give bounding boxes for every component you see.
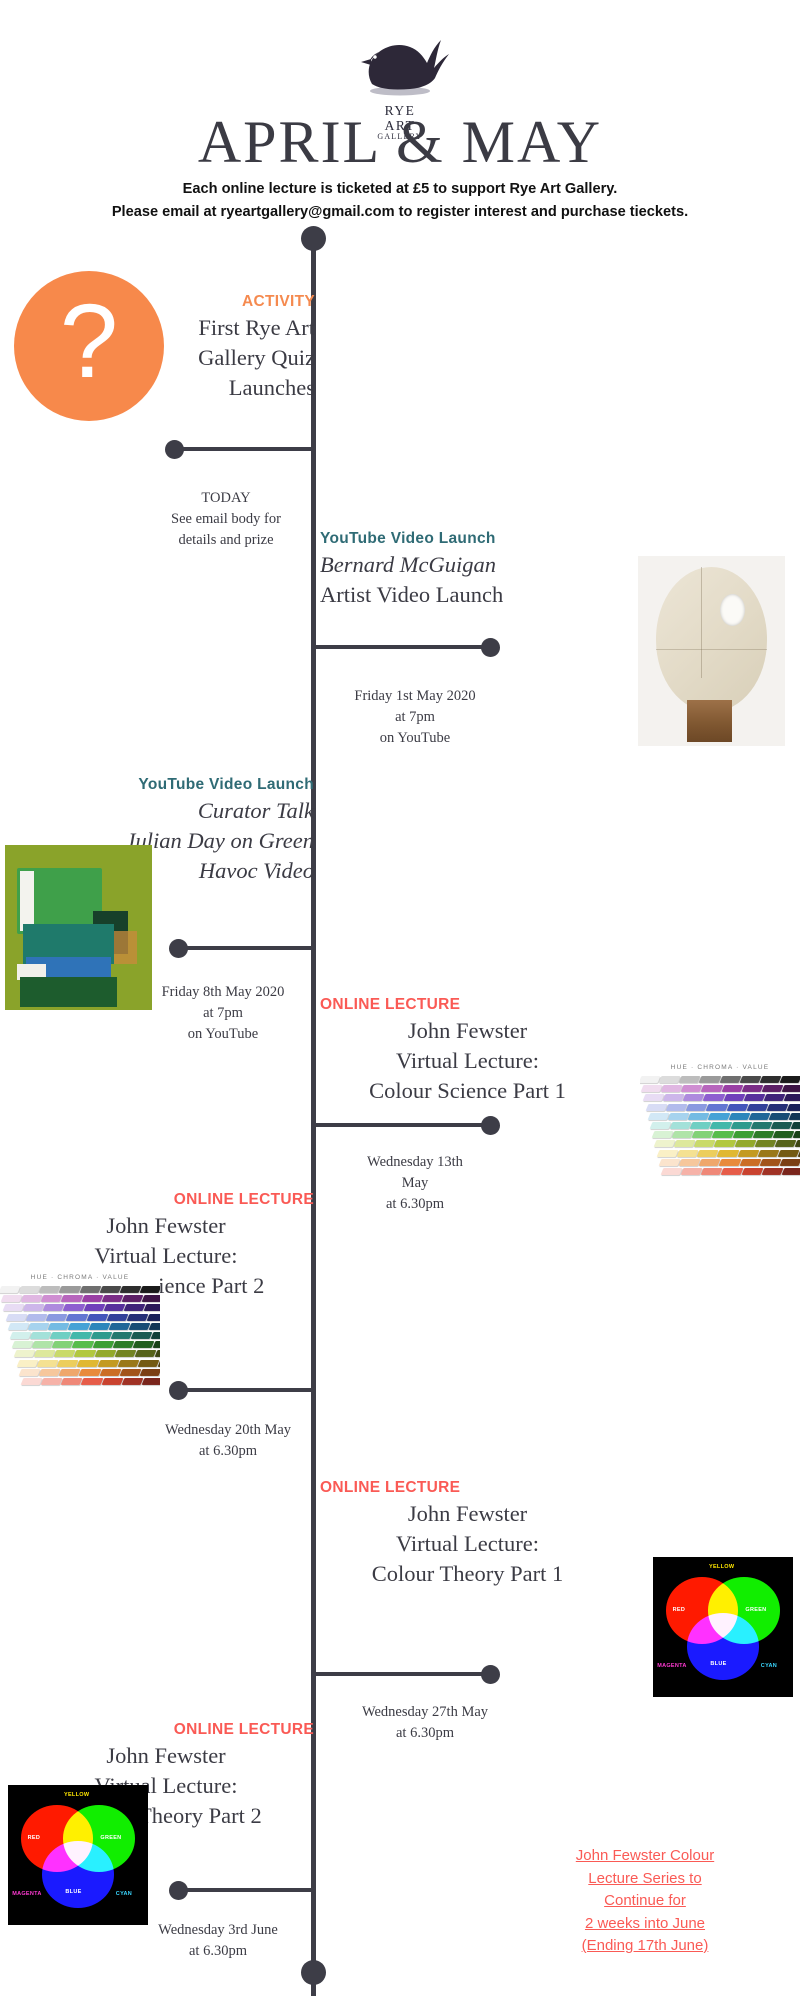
colour-chart-swatch <box>701 1085 723 1092</box>
page-subtitle: Each online lecture is ticketed at £5 to… <box>0 178 800 223</box>
colour-chart-swatch <box>90 1332 112 1339</box>
colour-chart-swatch <box>701 1168 723 1175</box>
colour-chart-row <box>12 1341 160 1348</box>
colour-chart-swatch <box>721 1085 743 1092</box>
footer-note-line-5: (Ending 17th June) <box>545 1935 745 1958</box>
colour-chart-swatch <box>83 1304 105 1311</box>
colour-chart-row <box>652 1131 800 1138</box>
colour-chart-swatch <box>759 1076 781 1083</box>
colour-chart-swatch <box>1 1295 23 1302</box>
colour-chart-swatch <box>81 1295 103 1302</box>
colour-chart-swatch <box>30 1332 52 1339</box>
colour-chart-swatch <box>41 1295 63 1302</box>
meta-line-2: at 6.30pm <box>118 1941 318 1962</box>
colour-chart-swatch <box>146 1314 160 1321</box>
event-connector-dot <box>169 1381 188 1400</box>
meta-line-2: at 7pm <box>128 1003 318 1024</box>
colour-chart-swatch <box>155 1350 160 1357</box>
headline-line-2: Artist Video Launch <box>320 580 540 610</box>
colour-chart-swatch <box>658 1159 680 1166</box>
rgb-label-yellow: YELLOW <box>64 1792 89 1798</box>
colour-chart-swatch <box>790 1122 800 1129</box>
colour-chart-row <box>14 1350 160 1357</box>
colour-chart-swatch <box>659 1076 681 1083</box>
colour-chart-swatch <box>32 1341 54 1348</box>
event-kicker: ONLINE LECTURE <box>320 1478 615 1497</box>
colour-chart-swatch <box>762 1085 784 1092</box>
meta-line-1: Wednesday 13th <box>325 1152 505 1173</box>
rgb-label-cyan: CYAN <box>761 1663 777 1669</box>
event-card-colour-science-part-1: ONLINE LECTURE John Fewster Virtual Lect… <box>320 995 615 1105</box>
headline-line-1: John Fewster <box>18 1211 314 1241</box>
event-connector-mcguigan <box>313 645 491 649</box>
event-meta: Wednesday 3rd June at 6.30pm <box>118 1920 318 1962</box>
colour-chart-swatch <box>723 1094 745 1101</box>
colour-chart-swatch <box>795 1140 800 1147</box>
colour-chart-swatch <box>39 1369 61 1376</box>
event-connector-dot <box>165 440 184 459</box>
meta-line-1: Wednesday 3rd June <box>118 1920 318 1941</box>
event-meta: Friday 8th May 2020 at 7pm on YouTube <box>128 982 318 1045</box>
colour-chart-row <box>5 1314 160 1321</box>
colour-chart-swatch <box>139 1286 160 1293</box>
colour-chart-swatch <box>61 1295 83 1302</box>
colour-chart-swatch <box>775 1140 797 1147</box>
colour-chart-swatch <box>79 1369 101 1376</box>
colour-chart-swatch <box>647 1113 669 1120</box>
event-meta: Wednesday 20th May at 6.30pm <box>128 1420 328 1462</box>
sculpture-seam-horizontal <box>656 649 768 650</box>
colour-chart-swatch <box>115 1350 137 1357</box>
colour-chart-swatch <box>110 1332 132 1339</box>
infographic-page: RYE ART GALLERY APRIL & MAY Each online … <box>0 0 800 2000</box>
meta-line-3: on YouTube <box>128 1024 318 1045</box>
colour-chart-swatch <box>681 1085 703 1092</box>
sculpture-photo <box>638 556 785 746</box>
colour-chart-swatch <box>679 1076 701 1083</box>
colour-chart-swatch <box>728 1113 750 1120</box>
event-connector-colour-science-1 <box>313 1123 491 1127</box>
colour-chart-swatch <box>690 1122 712 1129</box>
meta-line-2: See email body for <box>140 509 312 530</box>
headline-line-2: Virtual Lecture: <box>18 1241 314 1271</box>
colour-chart-swatch <box>641 1085 663 1092</box>
colour-chart-swatch <box>712 1131 734 1138</box>
event-kicker: ONLINE LECTURE <box>320 995 615 1014</box>
colour-chart-swatch <box>739 1159 761 1166</box>
colour-chart-swatch <box>70 1332 92 1339</box>
colour-chart-swatch <box>761 1168 783 1175</box>
colour-chart-swatch <box>68 1323 90 1330</box>
colour-chart-swatch <box>79 1286 101 1293</box>
event-meta: TODAY See email body for details and pri… <box>140 488 312 551</box>
headline-line-3: Colour Science Part 1 <box>320 1076 615 1106</box>
event-meta-colour-theory-part-2: Wednesday 3rd June at 6.30pm <box>118 1920 318 1962</box>
colour-chart-image-1: HUE · CHROMA · VALUE <box>640 1060 800 1190</box>
colour-chart-swatch <box>128 1323 150 1330</box>
colour-chart-row <box>18 1369 160 1376</box>
colour-chart-swatch <box>746 1104 768 1111</box>
colour-chart-swatch <box>777 1150 799 1157</box>
headline-line-3: Colour Theory Part 1 <box>320 1559 615 1589</box>
colour-chart-swatch <box>99 1369 121 1376</box>
colour-chart-swatch <box>766 1104 788 1111</box>
colour-chart-swatch <box>94 1350 116 1357</box>
colour-chart-swatch <box>135 1350 157 1357</box>
timeline-end-node <box>301 1960 326 1985</box>
colour-chart-swatch <box>117 1360 139 1367</box>
headline-line-2: Virtual Lecture: <box>320 1046 615 1076</box>
colour-chart-swatch <box>124 1304 146 1311</box>
colour-chart-swatch <box>770 1122 792 1129</box>
colour-chart-swatch <box>784 1094 800 1101</box>
timeline-start-node <box>301 226 326 251</box>
colour-chart-row <box>7 1323 160 1330</box>
colour-chart-swatch <box>112 1341 134 1348</box>
colour-chart-row <box>658 1159 800 1166</box>
meta-line-2: May <box>325 1173 505 1194</box>
colour-chart-row <box>645 1104 800 1111</box>
meta-line-2: at 6.30pm <box>128 1441 328 1462</box>
colour-chart-swatch <box>150 1332 160 1339</box>
colour-chart-row <box>21 1378 160 1385</box>
colour-chart-swatch <box>699 1076 721 1083</box>
footer-note-line-3: Continue for <box>545 1890 745 1913</box>
colour-chart-swatch <box>52 1341 74 1348</box>
colour-chart-swatch <box>650 1122 672 1129</box>
event-connector-dot <box>481 1116 500 1135</box>
sculpture-seam-vertical <box>701 567 702 677</box>
colour-chart-swatch <box>786 1104 800 1111</box>
colour-chart-swatch <box>652 1131 674 1138</box>
paint-shape-2 <box>20 871 35 930</box>
meta-line-1: Wednesday 20th May <box>128 1420 328 1441</box>
colour-chart-swatch <box>748 1113 770 1120</box>
colour-chart-swatch <box>730 1122 752 1129</box>
colour-chart-swatch <box>19 1286 41 1293</box>
rgb-label-yellow: YELLOW <box>709 1564 734 1570</box>
colour-chart-swatch <box>734 1140 756 1147</box>
colour-chart-swatch <box>144 1304 160 1311</box>
event-meta-bernard-mcguigan-video: Friday 1st May 2020 at 7pm on YouTube <box>325 686 505 749</box>
colour-chart-swatch <box>699 1159 721 1166</box>
colour-chart-swatch <box>676 1150 698 1157</box>
headline-line-1: John Fewster <box>18 1741 314 1771</box>
colour-chart-swatch <box>717 1150 739 1157</box>
colour-chart-swatch <box>744 1094 766 1101</box>
colour-chart-swatch <box>130 1332 152 1339</box>
colour-chart-swatch <box>59 1286 81 1293</box>
colour-chart-swatch <box>757 1150 779 1157</box>
event-meta: Wednesday 13th May at 6.30pm <box>325 1152 505 1215</box>
colour-chart-swatch <box>703 1094 725 1101</box>
paint-shape-8 <box>114 931 138 964</box>
colour-chart-swatch <box>0 1286 21 1293</box>
headline-line-1: Curator Talk <box>92 796 314 826</box>
colour-chart-swatch <box>72 1341 94 1348</box>
colour-chart-swatch <box>141 1378 160 1385</box>
rgb-label-magenta: MAGENTA <box>657 1663 687 1669</box>
green-painting-photo <box>5 845 152 1010</box>
colour-chart-row <box>16 1360 160 1367</box>
colour-chart-swatch <box>779 1076 800 1083</box>
colour-chart-swatch <box>108 1323 130 1330</box>
colour-chart-swatch <box>679 1159 701 1166</box>
event-meta-colour-science-part-2: Wednesday 20th May at 6.30pm <box>128 1420 328 1462</box>
colour-chart-swatch <box>656 1150 678 1157</box>
event-kicker: YouTube Video Launch <box>320 529 540 548</box>
event-connector-dot <box>169 939 188 958</box>
colour-chart-swatch <box>750 1122 772 1129</box>
colour-chart-row <box>3 1304 160 1311</box>
colour-chart-swatch <box>773 1131 795 1138</box>
event-headline: First Rye Art Gallery Quiz Launches <box>155 313 315 402</box>
colour-chart-swatch <box>706 1104 728 1111</box>
colour-chart-swatch <box>74 1350 96 1357</box>
colour-chart-row <box>1 1295 160 1302</box>
headline-line-1: John Fewster <box>320 1499 615 1529</box>
subtitle-line-1: Each online lecture is ticketed at £5 to… <box>0 178 800 201</box>
colour-chart-swatch <box>148 1323 160 1330</box>
colour-chart-swatch <box>153 1341 160 1348</box>
colour-chart-swatch <box>645 1104 667 1111</box>
colour-chart-row <box>654 1140 800 1147</box>
colour-chart-swatch <box>793 1131 800 1138</box>
colour-chart-swatch <box>737 1150 759 1157</box>
meta-line-2: at 6.30pm <box>325 1723 525 1744</box>
paint-shape-5 <box>20 977 117 1007</box>
colour-chart-swatch <box>81 1378 103 1385</box>
colour-chart-row <box>0 1286 160 1293</box>
colour-chart-swatch <box>25 1314 47 1321</box>
colour-chart-swatch <box>781 1168 800 1175</box>
colour-chart-swatch <box>668 1113 690 1120</box>
event-kicker: ACTIVITY <box>155 292 315 311</box>
colour-chart-swatch <box>10 1332 32 1339</box>
colour-chart-row <box>640 1076 800 1083</box>
colour-chart-swatch <box>714 1140 736 1147</box>
event-connector-curator-talk <box>178 946 313 950</box>
footer-note-line-4: 2 weeks into June <box>545 1913 745 1936</box>
event-meta-curator-talk-green-havoc: Friday 8th May 2020 at 7pm on YouTube <box>128 982 318 1045</box>
colour-chart-swatch <box>661 1168 683 1175</box>
event-meta-colour-theory-part-1: Wednesday 27th May at 6.30pm <box>325 1702 525 1744</box>
colour-chart-swatch <box>88 1323 110 1330</box>
colour-chart-swatch <box>106 1314 128 1321</box>
colour-chart-swatch <box>779 1159 800 1166</box>
colour-chart-row <box>661 1168 800 1175</box>
headline-line-1: First Rye Art <box>155 313 315 343</box>
colour-chart-swatch <box>696 1150 718 1157</box>
rgb-label-cyan: CYAN <box>116 1891 132 1897</box>
event-connector-dot <box>481 638 500 657</box>
colour-chart-swatch <box>97 1360 119 1367</box>
colour-chart-swatch <box>759 1159 781 1166</box>
colour-chart-swatch <box>77 1360 99 1367</box>
colour-chart-swatch <box>86 1314 108 1321</box>
bird-logo-icon <box>348 18 452 102</box>
meta-line-1: TODAY <box>140 488 312 509</box>
colour-chart-swatch <box>640 1076 661 1083</box>
colour-chart-swatch <box>741 1168 763 1175</box>
colour-chart-swatch <box>739 1076 761 1083</box>
event-meta-rye-art-gallery-quiz: TODAY See email body for details and pri… <box>140 488 312 551</box>
footer-note-line-2: Lecture Series to <box>545 1868 745 1891</box>
colour-chart-swatch <box>788 1113 800 1120</box>
meta-line-1: Friday 1st May 2020 <box>325 686 505 707</box>
colour-chart-caption: HUE · CHROMA · VALUE <box>0 1274 160 1281</box>
event-connector-quiz <box>174 447 313 451</box>
colour-chart-swatch <box>719 1159 741 1166</box>
sculpture-disc <box>656 567 768 711</box>
colour-chart-swatch <box>48 1323 70 1330</box>
colour-chart-swatch <box>719 1076 741 1083</box>
colour-chart-swatch <box>63 1304 85 1311</box>
meta-line-3: details and prize <box>140 530 312 551</box>
additive-rgb-diagram-2: RED GREEN BLUE YELLOW MAGENTA CYAN <box>8 1785 148 1925</box>
colour-chart-swatch <box>721 1168 743 1175</box>
colour-chart-swatch <box>56 1360 78 1367</box>
rgb-label-red: RED <box>673 1607 686 1613</box>
event-kicker: ONLINE LECTURE <box>18 1190 314 1209</box>
colour-chart-swatch <box>16 1360 38 1367</box>
colour-chart-swatch <box>5 1314 27 1321</box>
colour-chart-row <box>641 1085 800 1092</box>
colour-chart-swatch <box>685 1104 707 1111</box>
rgb-label-magenta: MAGENTA <box>12 1891 42 1897</box>
colour-chart-swatch <box>45 1314 67 1321</box>
colour-chart-swatch <box>39 1286 61 1293</box>
sculpture-wooden-base <box>687 700 733 742</box>
subtitle-line-2: Please email at ryeartgallery@gmail.com … <box>0 201 800 224</box>
colour-chart-swatch <box>119 1369 141 1376</box>
event-connector-colour-theory-1 <box>313 1672 491 1676</box>
colour-chart-swatch <box>122 1295 144 1302</box>
page-title: APRIL & MAY <box>0 112 800 172</box>
colour-chart-image-2: HUE · CHROMA · VALUE <box>0 1270 160 1400</box>
colour-chart-row <box>650 1122 800 1129</box>
colour-chart-swatch-stack <box>640 1076 800 1188</box>
rgb-label-green: GREEN <box>100 1835 121 1841</box>
series-continuation-note: John Fewster Colour Lecture Series to Co… <box>545 1845 745 1958</box>
colour-chart-swatch <box>661 1085 683 1092</box>
event-headline: Bernard McGuigan Artist Video Launch <box>320 550 540 609</box>
colour-chart-swatch <box>665 1104 687 1111</box>
colour-chart-row <box>643 1094 800 1101</box>
colour-chart-row <box>647 1113 800 1120</box>
colour-chart-swatch <box>670 1122 692 1129</box>
colour-chart-swatch <box>764 1094 786 1101</box>
colour-chart-swatch <box>126 1314 148 1321</box>
colour-chart-swatch <box>741 1085 763 1092</box>
colour-chart-swatch <box>692 1131 714 1138</box>
colour-chart-swatch <box>7 1323 29 1330</box>
colour-chart-swatch <box>137 1360 159 1367</box>
rgb-label-blue: BLUE <box>710 1661 726 1667</box>
rgb-circle-blue <box>687 1613 760 1680</box>
event-meta: Friday 1st May 2020 at 7pm on YouTube <box>325 686 505 749</box>
question-mark-circle-icon: ? <box>14 271 164 421</box>
colour-chart-swatch <box>768 1113 790 1120</box>
colour-chart-swatch <box>121 1378 143 1385</box>
colour-chart-swatch <box>21 1295 43 1302</box>
rgb-label-blue: BLUE <box>65 1889 81 1895</box>
colour-chart-swatch <box>119 1286 141 1293</box>
colour-chart-swatch <box>101 1378 123 1385</box>
footer-note-line-1: John Fewster Colour <box>545 1845 745 1868</box>
headline-line-2: Gallery Quiz <box>155 343 315 373</box>
colour-chart-swatch <box>142 1295 160 1302</box>
colour-chart-swatch <box>28 1323 50 1330</box>
colour-chart-swatch <box>782 1085 800 1092</box>
colour-chart-swatch <box>101 1295 123 1302</box>
headline-line-2: Virtual Lecture: <box>320 1529 615 1559</box>
colour-chart-swatch <box>732 1131 754 1138</box>
rgb-circle-blue <box>42 1841 115 1908</box>
colour-chart-swatch <box>41 1378 63 1385</box>
colour-chart-swatch <box>50 1332 72 1339</box>
colour-chart-swatch <box>139 1369 160 1376</box>
colour-chart-caption: HUE · CHROMA · VALUE <box>640 1064 800 1071</box>
meta-line-1: Wednesday 27th May <box>325 1702 525 1723</box>
colour-chart-swatch <box>688 1113 710 1120</box>
colour-chart-swatch <box>36 1360 58 1367</box>
colour-chart-swatch <box>672 1131 694 1138</box>
colour-chart-swatch <box>752 1131 774 1138</box>
colour-chart-swatch <box>59 1369 81 1376</box>
meta-line-3: at 6.30pm <box>325 1194 505 1215</box>
event-kicker: ONLINE LECTURE <box>18 1720 314 1739</box>
colour-chart-swatch <box>710 1122 732 1129</box>
colour-chart-swatch <box>66 1314 88 1321</box>
headline-line-3: Launches <box>155 373 315 403</box>
colour-chart-swatch-stack <box>0 1286 160 1398</box>
additive-rgb-diagram-1: RED GREEN BLUE YELLOW MAGENTA CYAN <box>653 1557 793 1697</box>
colour-chart-swatch <box>92 1341 114 1348</box>
event-connector-colour-theory-2 <box>178 1888 313 1892</box>
event-meta-colour-science-part-1: Wednesday 13th May at 6.30pm <box>325 1152 505 1215</box>
colour-chart-swatch <box>104 1304 126 1311</box>
meta-line-2: at 7pm <box>325 707 505 728</box>
footer-note-text: John Fewster Colour Lecture Series to Co… <box>545 1845 745 1958</box>
colour-chart-swatch <box>726 1104 748 1111</box>
event-connector-dot <box>481 1665 500 1684</box>
colour-chart-row <box>656 1150 800 1157</box>
event-card-rye-art-gallery-quiz: ACTIVITY First Rye Art Gallery Quiz Laun… <box>155 292 315 402</box>
colour-chart-swatch <box>18 1369 40 1376</box>
colour-chart-swatch <box>708 1113 730 1120</box>
event-card-colour-theory-part-1: ONLINE LECTURE John Fewster Virtual Lect… <box>320 1478 615 1588</box>
colour-chart-swatch <box>99 1286 121 1293</box>
event-card-bernard-mcguigan-video: YouTube Video Launch Bernard McGuigan Ar… <box>320 529 540 610</box>
rgb-label-red: RED <box>28 1835 41 1841</box>
event-connector-colour-science-2 <box>178 1388 313 1392</box>
colour-chart-swatch <box>12 1341 34 1348</box>
meta-line-3: on YouTube <box>325 728 505 749</box>
colour-chart-swatch <box>21 1378 43 1385</box>
meta-line-1: Friday 8th May 2020 <box>128 982 318 1003</box>
event-meta: Wednesday 27th May at 6.30pm <box>325 1702 525 1744</box>
colour-chart-swatch <box>755 1140 777 1147</box>
event-headline: John Fewster Virtual Lecture: Colour The… <box>320 1499 615 1588</box>
rgb-label-green: GREEN <box>745 1607 766 1613</box>
event-headline: John Fewster Virtual Lecture: Colour Sci… <box>320 1016 615 1105</box>
event-connector-dot <box>169 1881 188 1900</box>
headline-line-1: John Fewster <box>320 1016 615 1046</box>
colour-chart-row <box>10 1332 160 1339</box>
colour-chart-swatch <box>61 1378 83 1385</box>
headline-line-1: Bernard McGuigan <box>320 550 540 580</box>
